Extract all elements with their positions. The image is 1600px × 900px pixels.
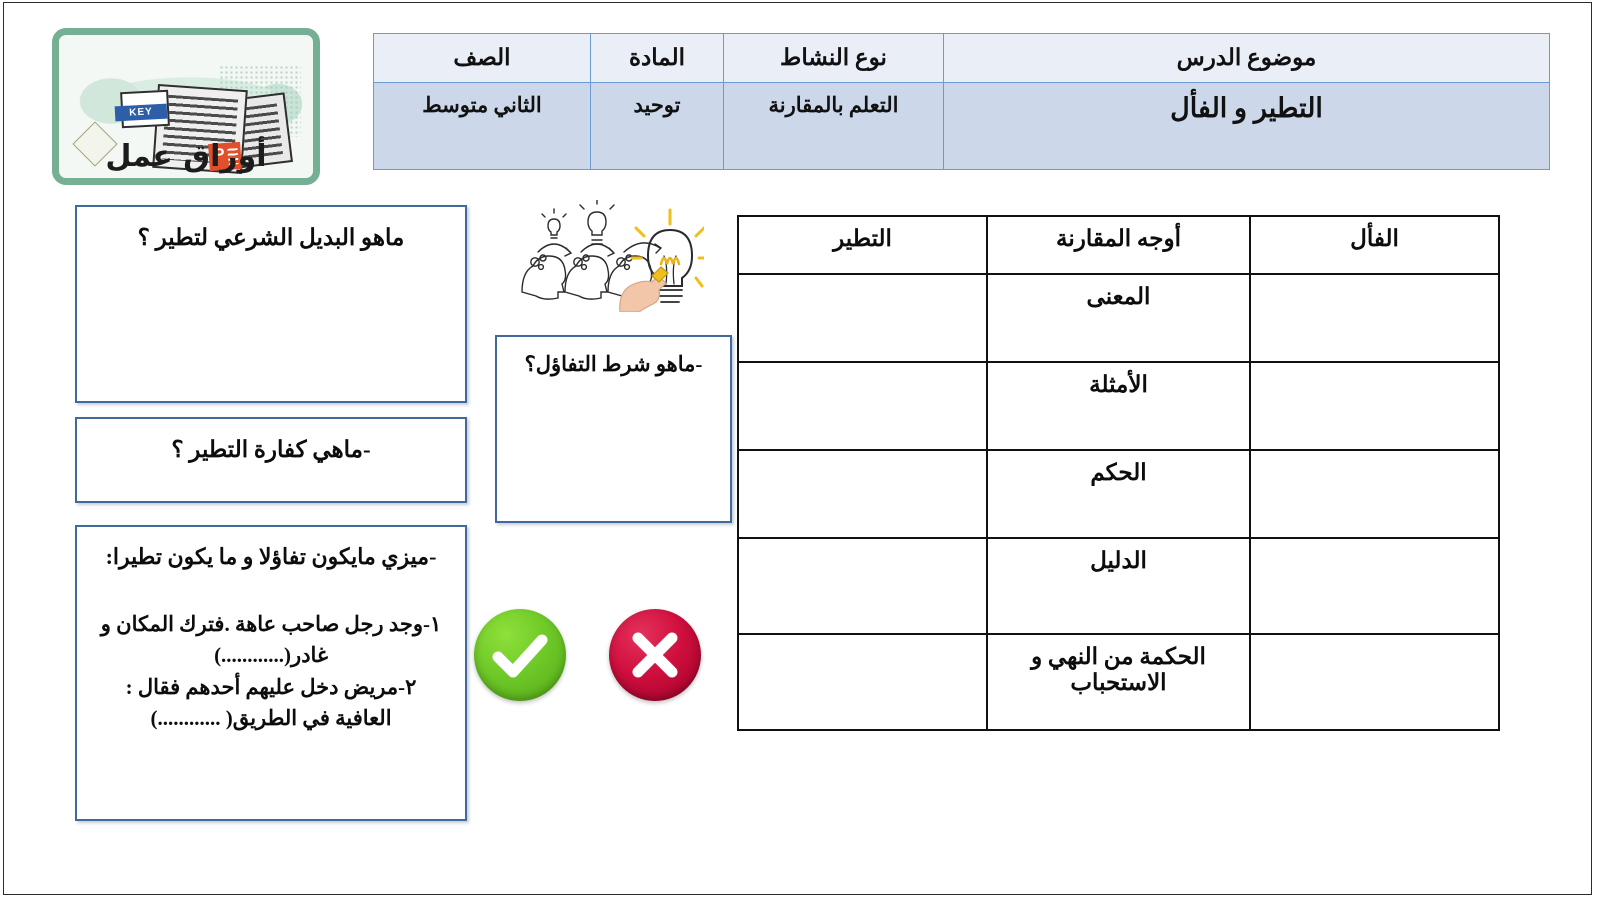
header-activity-type: نوع النشاط (724, 34, 944, 83)
table-row: المعنى (738, 274, 1499, 362)
cell-aspect-wisdom: الحكمة من النهي و الاستحباب (987, 634, 1250, 730)
comparison-header-tatayyur: التطير (738, 216, 987, 274)
cell-fal-evidence[interactable] (1250, 538, 1499, 634)
question-text-alternative: ماهو البديل الشرعي لتطير ؟ (77, 207, 465, 254)
header-subject: المادة (591, 34, 724, 83)
info-table-value-row: التطير و الفأل التعلم بالمقارنة توحيد ال… (374, 83, 1550, 170)
cell-fal-meaning[interactable] (1250, 274, 1499, 362)
value-activity-type: التعلم بالمقارنة (724, 83, 944, 170)
cell-fal-ruling[interactable] (1250, 450, 1499, 538)
question-text-distinguish-lead: -ميزي مايكون تفاؤلا و ما يكون تطيرا: (77, 527, 465, 573)
cell-fal-examples[interactable] (1250, 362, 1499, 450)
cell-tatayyur-examples[interactable] (738, 362, 987, 450)
cell-aspect-examples: الأمثلة (987, 362, 1250, 450)
cell-aspect-meaning: المعنى (987, 274, 1250, 362)
cross-circle-icon (609, 609, 701, 701)
info-table-header-row: موضوع الدرس نوع النشاط المادة الصف (374, 34, 1550, 83)
header-grade: الصف (374, 34, 591, 83)
question-text-optimism: -ماهو شرط التفاؤل؟ (497, 337, 730, 379)
check-circle-icon (474, 609, 566, 701)
question-box-alternative[interactable]: ماهو البديل الشرعي لتطير ؟ (75, 205, 467, 403)
header-topic: موضوع الدرس (944, 34, 1550, 83)
table-row: الأمثلة (738, 362, 1499, 450)
distinguish-item-2: ٢-مريض دخل عليهم أحدهم فقال : العافية في… (77, 672, 465, 735)
table-row: الحكمة من النهي و الاستحباب (738, 634, 1499, 730)
comparison-table: الفأل أوجه المقارنة التطير المعنى الأمثل… (737, 215, 1500, 731)
cell-aspect-evidence: الدليل (987, 538, 1250, 634)
worksheet-page: KEY P أوراق عمل موضوع الدرس نوع النشاط ا… (0, 0, 1600, 900)
lightbulb-idea-illustration (508, 200, 704, 312)
question-box-distinguish[interactable]: -ميزي مايكون تفاؤلا و ما يكون تطيرا: ١-و… (75, 525, 467, 821)
question-box-expiation[interactable]: -ماهي كفارة التطير ؟ (75, 417, 467, 503)
question-text-expiation: -ماهي كفارة التطير ؟ (77, 419, 465, 466)
value-subject: توحيد (591, 83, 724, 170)
worksheet-logo: KEY P أوراق عمل (52, 28, 320, 185)
value-topic: التطير و الفأل (944, 83, 1550, 170)
cell-tatayyur-ruling[interactable] (738, 450, 987, 538)
table-row: الدليل (738, 538, 1499, 634)
table-row: الحكم (738, 450, 1499, 538)
lesson-info-table: موضوع الدرس نوع النشاط المادة الصف التطي… (373, 33, 1550, 170)
cell-aspect-ruling: الحكم (987, 450, 1250, 538)
distinguish-item-1: ١-وجد رجل صاحب عاهة .فترك المكان و غادر(… (77, 609, 465, 672)
question-box-optimism[interactable]: -ماهو شرط التفاؤل؟ (495, 335, 732, 523)
value-grade: الثاني متوسط (374, 83, 591, 170)
cell-tatayyur-meaning[interactable] (738, 274, 987, 362)
comparison-header-aspect: أوجه المقارنة (987, 216, 1250, 274)
logo-title: أوراق عمل (59, 139, 313, 174)
cell-tatayyur-evidence[interactable] (738, 538, 987, 634)
comparison-header-fal: الفأل (1250, 216, 1499, 274)
cell-fal-wisdom[interactable] (1250, 634, 1499, 730)
cell-tatayyur-wisdom[interactable] (738, 634, 987, 730)
comparison-header-row: الفأل أوجه المقارنة التطير (738, 216, 1499, 274)
key-label: KEY (115, 104, 168, 122)
